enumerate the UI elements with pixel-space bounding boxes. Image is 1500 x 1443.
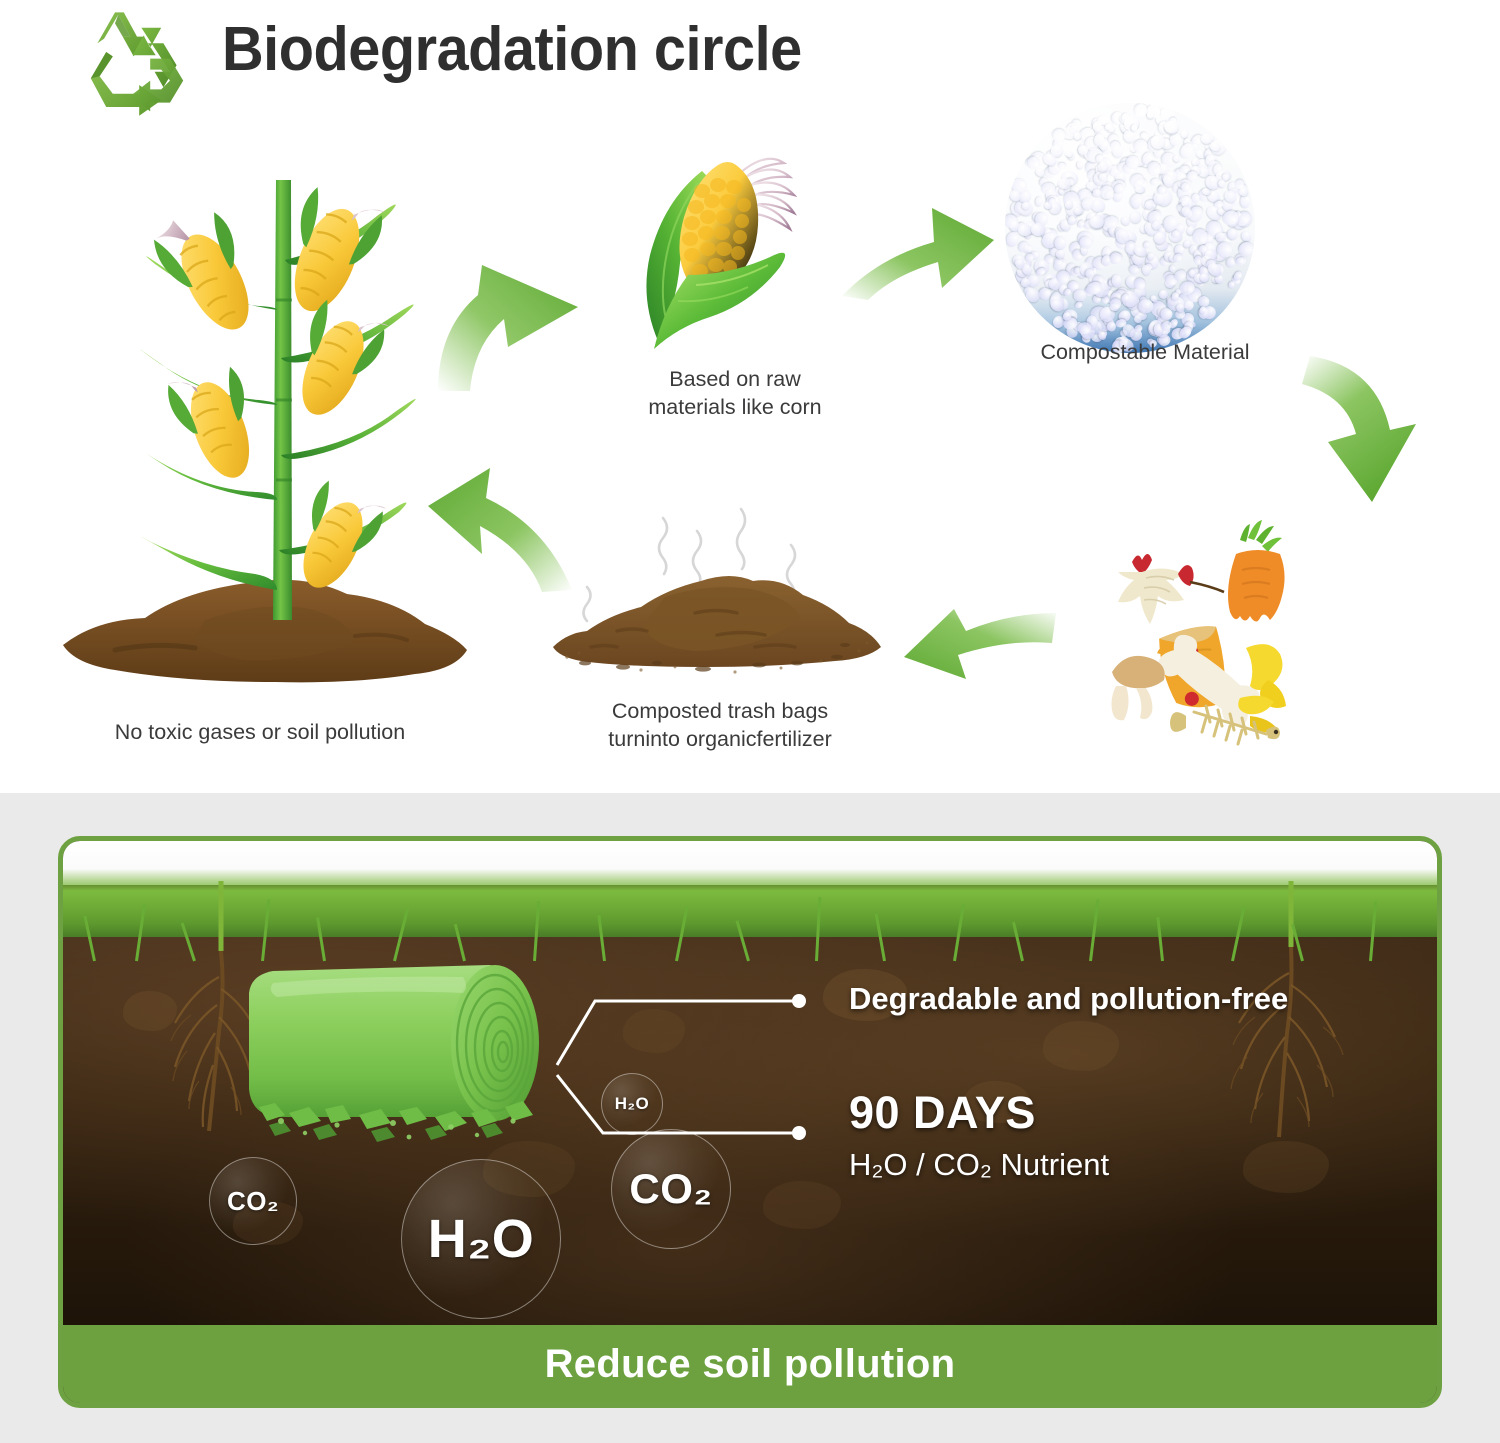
pellet <box>1180 129 1188 138</box>
pellet <box>1198 306 1206 315</box>
arrow-pellets-to-waste <box>1290 350 1420 510</box>
soil-cross-section: CO₂ H₂O H₂O CO₂ Degradable and pollution… <box>63 841 1437 1335</box>
pellet <box>1092 189 1100 197</box>
arrow-waste-to-compost <box>900 605 1060 695</box>
soil-clod <box>1043 1021 1119 1071</box>
caption-no-toxic-gases: No toxic gases or soil pollution <box>60 718 460 746</box>
bubble-co2-mid: CO₂ <box>611 1129 731 1249</box>
days-value: 90 DAYS <box>849 1087 1036 1139</box>
pellet <box>1239 194 1250 209</box>
compost-pile-icon <box>545 505 890 700</box>
bubble-co2-mid-label: CO₂ <box>629 1165 712 1213</box>
plastic-pellets-icon <box>1005 103 1290 353</box>
bubble-co2-left: CO₂ <box>209 1157 297 1245</box>
pellet <box>1228 281 1236 290</box>
footer-bar: Reduce soil pollution <box>63 1325 1437 1403</box>
pellet <box>1055 237 1067 250</box>
pellet <box>1035 196 1043 207</box>
pellet <box>1133 314 1143 324</box>
pellet <box>1058 163 1066 169</box>
pellet <box>1076 161 1084 170</box>
nutrient-line: H₂O / CO₂ Nutrient <box>849 1147 1109 1183</box>
food-waste-icon <box>1090 520 1325 755</box>
caption-composted-trash-bags: Composted trash bags turninto organicfer… <box>560 697 880 754</box>
corn-plant-icon <box>55 150 475 710</box>
bubble-co2-left-label: CO₂ <box>227 1186 279 1217</box>
caption-raw-materials: Based on raw materials like corn <box>600 365 870 422</box>
pellets-photo <box>1005 103 1255 353</box>
arrow-cob-to-pellets <box>838 196 998 306</box>
pellet <box>1041 182 1056 195</box>
arrow-plant-to-cob <box>430 255 600 400</box>
soil-pollution-panel: CO₂ H₂O H₂O CO₂ Degradable and pollution… <box>58 836 1442 1408</box>
bubble-h2o-large-label: H₂O <box>428 1208 535 1270</box>
page-title: Biodegradation circle <box>222 14 802 85</box>
bubble-h2o-small: H₂O <box>601 1073 663 1135</box>
infographic-page: Biodegradation circle <box>0 0 1500 1443</box>
pellet <box>1206 155 1215 166</box>
bubble-h2o-small-label: H₂O <box>615 1094 650 1114</box>
bubble-h2o-large: H₂O <box>401 1159 561 1319</box>
soil-clod <box>623 1009 685 1053</box>
pellet <box>1150 177 1159 186</box>
pellet <box>1191 207 1203 216</box>
green-bag-roll-icon <box>213 957 573 1142</box>
soil-clod <box>1243 1141 1329 1193</box>
soil-clod <box>763 1181 841 1229</box>
pellet <box>1135 186 1145 193</box>
pellet <box>1110 298 1122 310</box>
recycle-icon <box>62 8 212 118</box>
corn-cob-icon <box>618 135 818 360</box>
pellet <box>1073 289 1087 302</box>
soil-clod <box>123 991 177 1031</box>
callout-degradable-label: Degradable and pollution-free <box>849 981 1288 1017</box>
footer-text: Reduce soil pollution <box>545 1342 956 1387</box>
arrow-compost-to-plant <box>420 462 580 597</box>
pellet <box>1129 211 1142 225</box>
pellet <box>1074 301 1084 310</box>
header: Biodegradation circle <box>0 0 1100 120</box>
biodegradation-cycle-panel: Biodegradation circle <box>0 0 1500 793</box>
caption-compostable-material: Compostable Material <box>1000 338 1290 366</box>
